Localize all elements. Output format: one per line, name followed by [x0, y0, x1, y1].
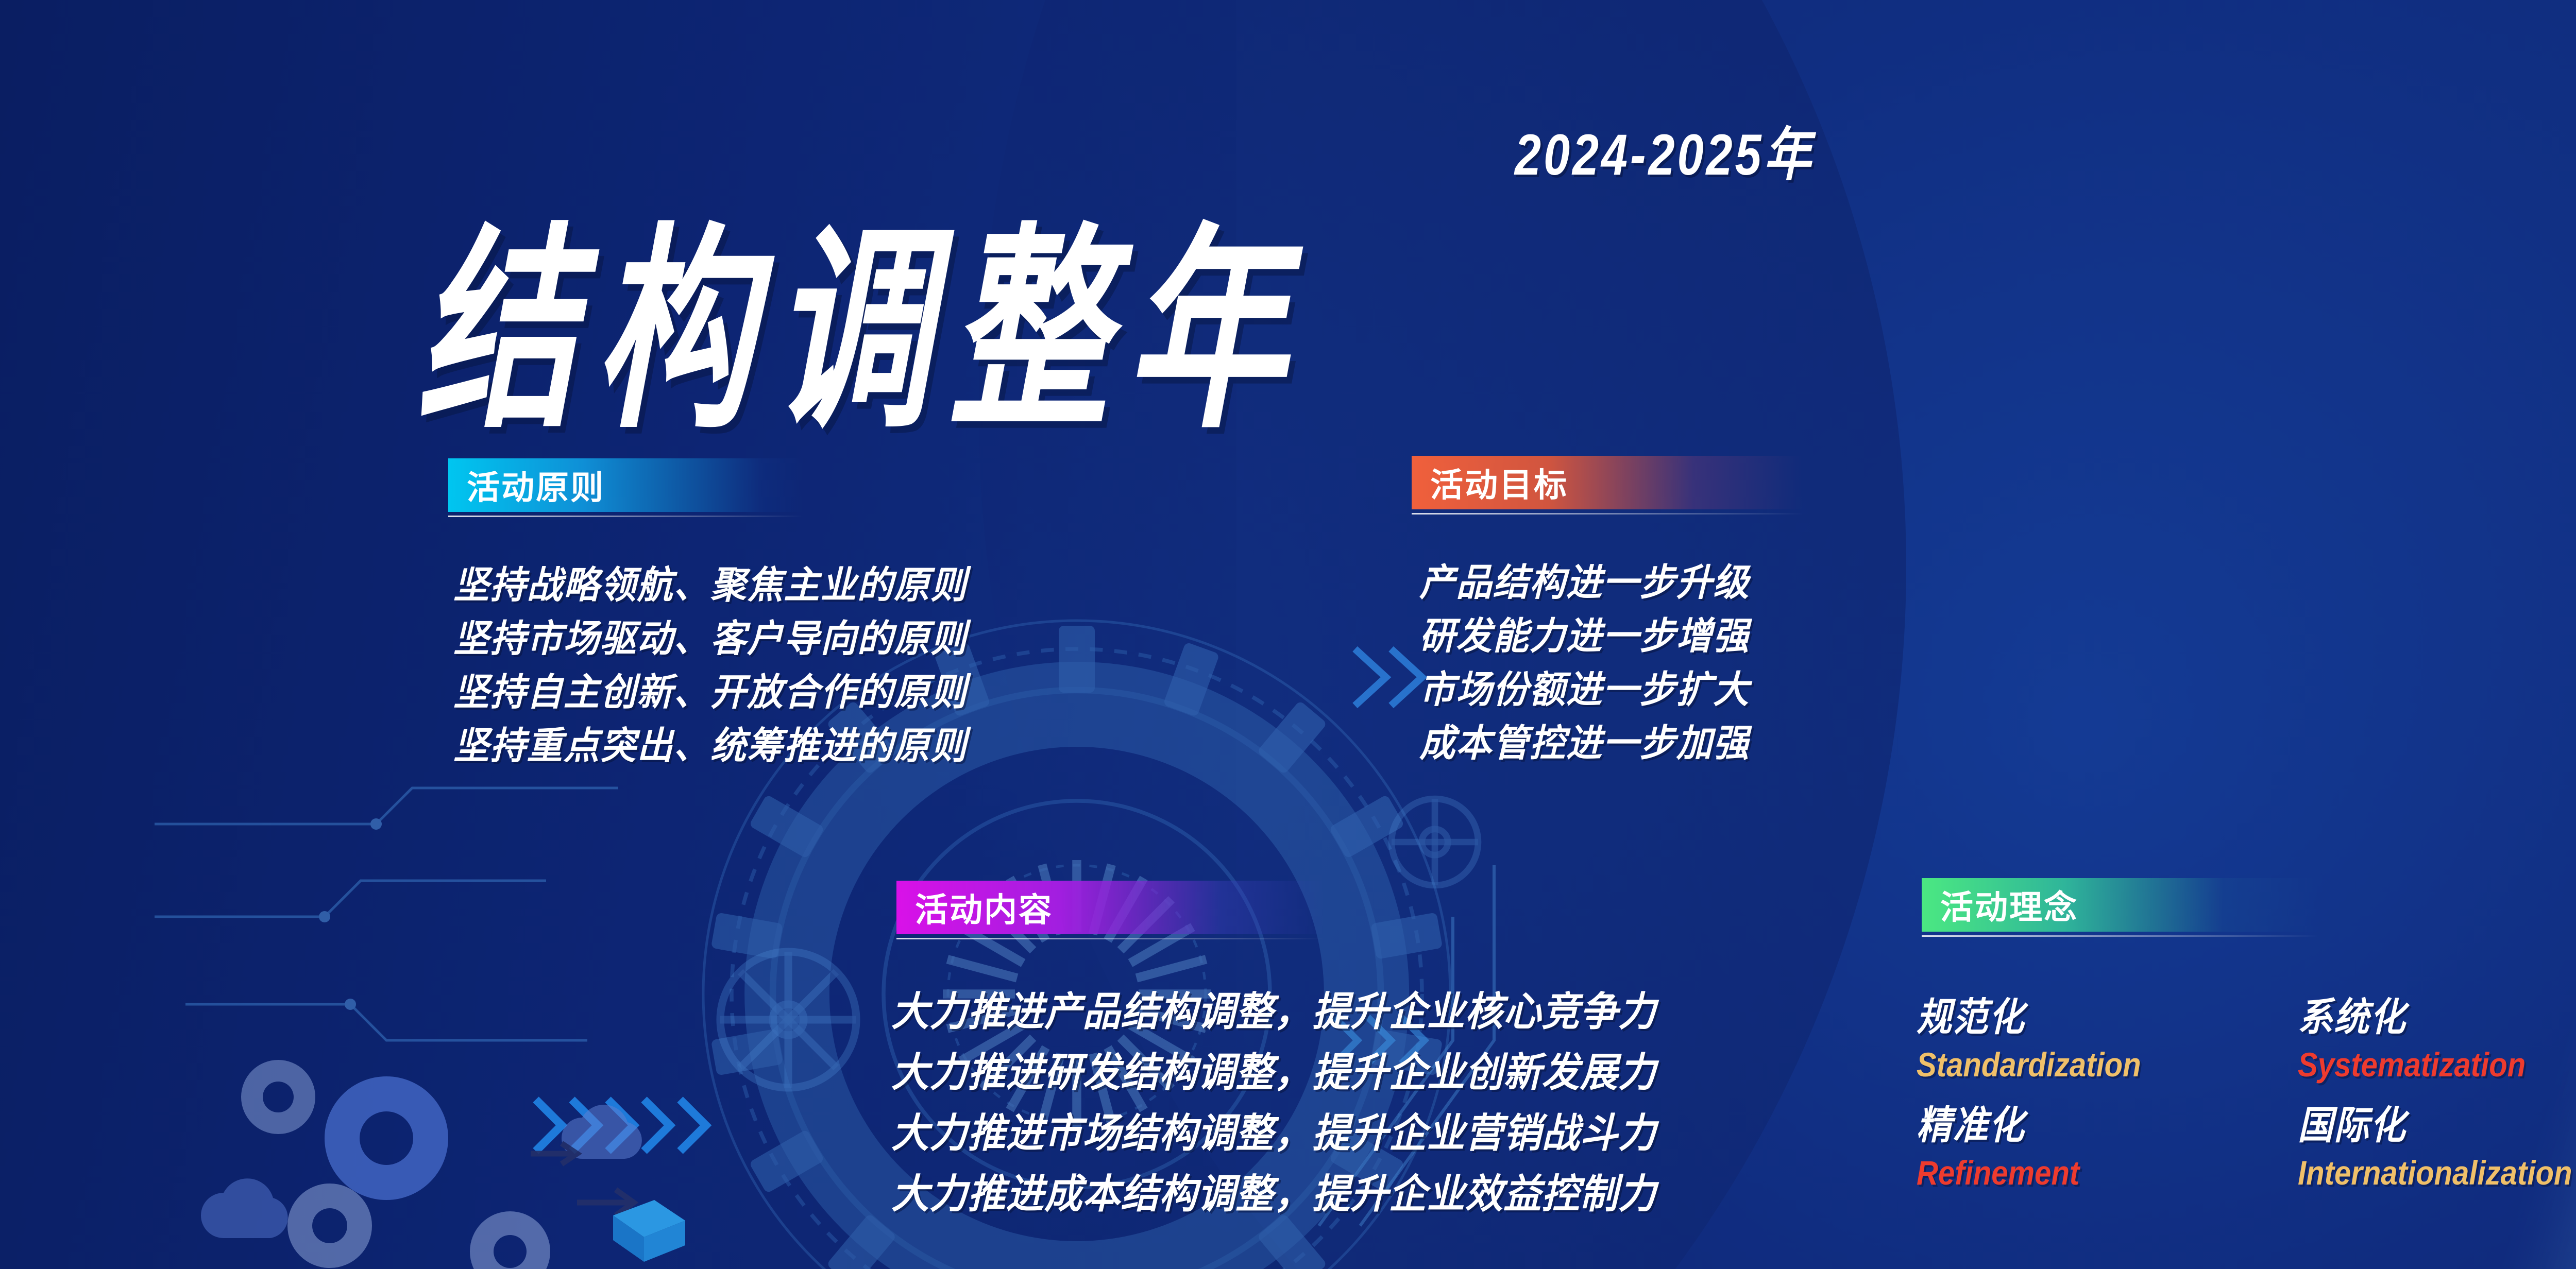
concept-item: 规范化 Standardization: [1917, 994, 2298, 1102]
list-item: 坚持战略领航、聚焦主业的原则: [453, 559, 968, 612]
list-item: 成本管控进一步加强: [1419, 717, 1750, 770]
list-item: 市场份额进一步扩大: [1419, 663, 1750, 717]
concept-label-cn: 规范化: [1917, 994, 2260, 1041]
list-item: 大力推进市场结构调整，提升企业营销战斗力: [891, 1103, 1656, 1163]
badge-concept: 活动理念: [1922, 878, 2318, 932]
badge-goal: 活动目标: [1412, 456, 1803, 509]
list-item: 产品结构进一步升级: [1419, 556, 1750, 610]
badge-underline: [1922, 935, 2318, 937]
badge-underline: [896, 938, 1324, 939]
concept-label-en: Refinement: [1917, 1150, 2252, 1196]
concept-label-cn: 精准化: [1917, 1102, 2260, 1150]
year-label: 2024-2025年: [1515, 108, 1814, 192]
badge-goal-label: 活动目标: [1430, 459, 1568, 506]
concept-label-cn: 国际化: [2298, 1102, 2576, 1150]
tech-icons-cluster: [170, 1045, 685, 1269]
principle-list: 坚持战略领航、聚焦主业的原则 坚持市场驱动、客户导向的原则 坚持自主创新、开放合…: [453, 559, 994, 773]
decorative-rings: [2566, 206, 2576, 422]
badge-underline: [1412, 513, 1803, 515]
list-item: 大力推进产品结构调整，提升企业核心竞争力: [891, 981, 1656, 1042]
badge-content: 活动内容: [896, 881, 1324, 934]
badge-concept-label: 活动理念: [1940, 881, 2078, 929]
concept-label-en: Systematization: [2298, 1041, 2576, 1088]
small-gear-icon: [1381, 788, 1489, 896]
concept-grid: 规范化 Standardization 系统化 Systematization …: [1917, 994, 2576, 1210]
badge-underline: [448, 516, 804, 517]
concept-item: 系统化 Systematization: [2298, 994, 2576, 1102]
small-gear-icon: [711, 942, 866, 1097]
concept-item: 精准化 Refinement: [1917, 1102, 2298, 1210]
list-item: 大力推进研发结构调整，提升企业创新发展力: [891, 1042, 1656, 1103]
campaign-banner: 2024-2025年 结构调整年 活动原则 坚持战略领航、聚焦主业的原则 坚持市…: [0, 0, 2576, 1269]
concept-label-cn: 系统化: [2298, 994, 2576, 1041]
list-item: 研发能力进一步增强: [1419, 610, 1750, 663]
content-list: 大力推进产品结构调整，提升企业核心竞争力 大力推进研发结构调整，提升企业创新发展…: [891, 981, 1705, 1224]
concept-item: 国际化 Internationalization: [2298, 1102, 2576, 1210]
badge-principle: 活动原则: [448, 458, 804, 512]
badge-principle-label: 活动原则: [467, 461, 605, 509]
concept-label-en: Internationalization: [2298, 1150, 2576, 1196]
list-item: 坚持自主创新、开放合作的原则: [453, 666, 968, 719]
cloud-icon: [201, 1178, 288, 1238]
goal-list: 产品结构进一步升级 研发能力进一步增强 市场份额进一步扩大 成本管控进一步加强: [1419, 556, 1767, 770]
concept-label-en: Standardization: [1917, 1041, 2252, 1088]
page-title: 结构调整年: [417, 155, 1303, 470]
list-item: 大力推进成本结构调整，提升企业效益控制力: [891, 1163, 1656, 1224]
list-item: 坚持市场驱动、客户导向的原则: [453, 612, 968, 666]
badge-content-label: 活动内容: [915, 884, 1053, 931]
list-item: 坚持重点突出、统筹推进的原则: [453, 719, 968, 773]
